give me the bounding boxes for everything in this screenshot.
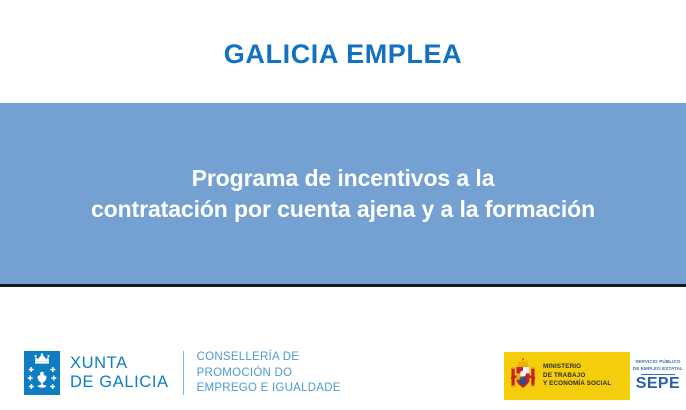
conselleria-line-2: PROMOCIÓN DO [197,366,341,382]
program-banner-line-2: contratación por cuenta ajena y a la for… [91,194,595,225]
program-banner-text: Programa de incentivos a la contratación… [83,163,603,224]
sepe-subtitle-line-2: DE EMPLEO ESTATAL [633,366,683,373]
ministerio-line-1: MINISTERIO [543,363,611,372]
ministerio-text: MINISTERIO DE TRABAJO Y ECONOMÍA SOCIAL [543,363,611,390]
sepe-acronym: SEPE [636,376,680,392]
conselleria-line-1: CONSELLERÍA DE [197,350,341,366]
logo-divider [183,351,184,395]
escudo-de-espana-icon [510,358,536,394]
conselleria-text: CONSELLERÍA DE PROMOCIÓN DO EMPREGO E IG… [197,350,341,397]
ministerio-line-3: Y ECONOMÍA SOCIAL [543,380,611,389]
program-banner-line-1: Programa de incentivos a la [91,163,595,194]
xunta-wordmark: XUNTA DE GALICIA [70,354,169,393]
sepe-subtitle-line-1: SERVICIO PÚBLICO [633,359,683,366]
xunta-emblem-icon [24,351,60,395]
sepe-logo: SERVICIO PÚBLICO DE EMPLEO ESTATAL SEPE [630,352,686,400]
program-banner: Programa de incentivos a la contratación… [0,103,686,284]
xunta-wordmark-line-2: DE GALICIA [70,373,169,392]
page-title: GALICIA EMPLEA [224,41,462,68]
xunta-de-galicia-logo: XUNTA DE GALICIA CONSELLERÍA DE PROMOCIÓ… [24,350,341,397]
xunta-wordmark-line-1: XUNTA [70,354,169,373]
conselleria-line-3: EMPREGO E IGUALDADE [197,381,341,397]
page-header: GALICIA EMPLEA [0,0,686,103]
sepe-subtitle: SERVICIO PÚBLICO DE EMPLEO ESTATAL [633,359,683,372]
gobierno-sepe-logo-group: MINISTERIO DE TRABAJO Y ECONOMÍA SOCIAL … [504,352,686,400]
ministerio-de-trabajo-logo: MINISTERIO DE TRABAJO Y ECONOMÍA SOCIAL [504,352,630,400]
